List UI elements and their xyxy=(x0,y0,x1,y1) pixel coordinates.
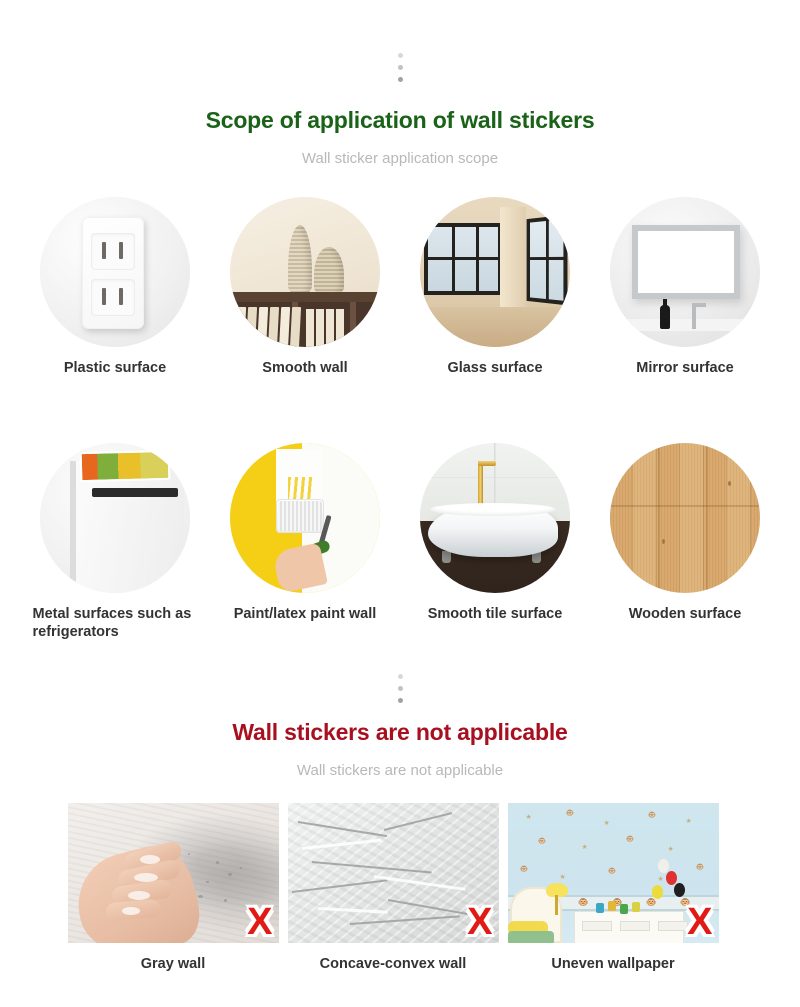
cross-mark-icon: X xyxy=(247,905,272,939)
three-dots-vertical-icon xyxy=(0,674,800,703)
feature-label: Metal surfaces such as refrigerators xyxy=(33,605,198,641)
warning-label: Gray wall xyxy=(83,955,263,973)
bathtub-image xyxy=(420,443,570,593)
feature-mirror-surface[interactable]: Mirror surface xyxy=(590,197,780,377)
feature-label: Plastic surface xyxy=(25,359,205,377)
dot-3 xyxy=(398,77,403,82)
feature-label: Glass surface xyxy=(405,359,585,377)
warning-label: Uneven wallpaper xyxy=(523,955,703,973)
warning-uneven-wallpaper[interactable]: ★ 🐵 ★ 🐵 ★ 🐵 ★ 🐵 ★ 🐵 ★ 🐵 ★ 🐵 🐵 � xyxy=(503,803,723,973)
wood-floor-image xyxy=(610,443,760,593)
feature-label: Mirror surface xyxy=(595,359,775,377)
warning-gray-wall[interactable]: X Gray wall xyxy=(63,803,283,973)
cross-mark-icon: X xyxy=(467,905,492,939)
kids-wallpaper-room-image: ★ 🐵 ★ 🐵 ★ 🐵 ★ 🐵 ★ 🐵 ★ 🐵 ★ 🐵 🐵 � xyxy=(508,803,719,943)
feature-metal-surface[interactable]: Metal surfaces such as refrigerators xyxy=(20,443,210,641)
dot-2 xyxy=(398,686,403,691)
rough-cracked-wall-image: X xyxy=(288,803,499,943)
window-room-image xyxy=(420,197,570,347)
three-dots-vertical-icon xyxy=(0,53,800,82)
feature-wooden-surface[interactable]: Wooden surface xyxy=(590,443,780,641)
not-applicable-subheading: Wall stickers are not applicable xyxy=(0,762,800,779)
warning-concave-convex-wall[interactable]: X Concave-convex wall xyxy=(283,803,503,973)
dot-2 xyxy=(398,65,403,70)
feature-label: Wooden surface xyxy=(595,605,775,623)
applicable-grid-row-1: Plastic surface Smooth wall xyxy=(20,197,780,377)
not-applicable-heading: Wall stickers are not applicable xyxy=(0,719,800,746)
dot-1 xyxy=(398,53,403,58)
cross-mark-icon: X xyxy=(687,905,712,939)
shelf-vases-image xyxy=(230,197,380,347)
powdery-gray-wall-image: X xyxy=(68,803,279,943)
feature-paint-wall[interactable]: Paint/latex paint wall xyxy=(210,443,400,641)
paint-roller-image xyxy=(230,443,380,593)
dot-3 xyxy=(398,698,403,703)
feature-glass-surface[interactable]: Glass surface xyxy=(400,197,590,377)
bathroom-mirror-image xyxy=(610,197,760,347)
applicable-grid-row-2: Metal surfaces such as refrigerators Pai… xyxy=(20,443,780,641)
product-detail-page: Scope of application of wall stickers Wa… xyxy=(0,0,800,1007)
feature-label: Smooth tile surface xyxy=(405,605,585,623)
feature-plastic-surface[interactable]: Plastic surface xyxy=(20,197,210,377)
feature-label: Smooth wall xyxy=(215,359,395,377)
feature-smooth-wall[interactable]: Smooth wall xyxy=(210,197,400,377)
applicable-subheading: Wall sticker application scope xyxy=(0,150,800,167)
applicable-heading: Scope of application of wall stickers xyxy=(0,107,800,134)
dot-1 xyxy=(398,674,403,679)
refrigerator-image xyxy=(40,443,190,593)
feature-label: Paint/latex paint wall xyxy=(215,605,395,623)
power-outlet-image xyxy=(40,197,190,347)
warning-label: Concave-convex wall xyxy=(303,955,483,973)
feature-tile-surface[interactable]: Smooth tile surface xyxy=(400,443,590,641)
not-applicable-grid: X Gray wall X Concave-convex wa xyxy=(63,803,723,973)
